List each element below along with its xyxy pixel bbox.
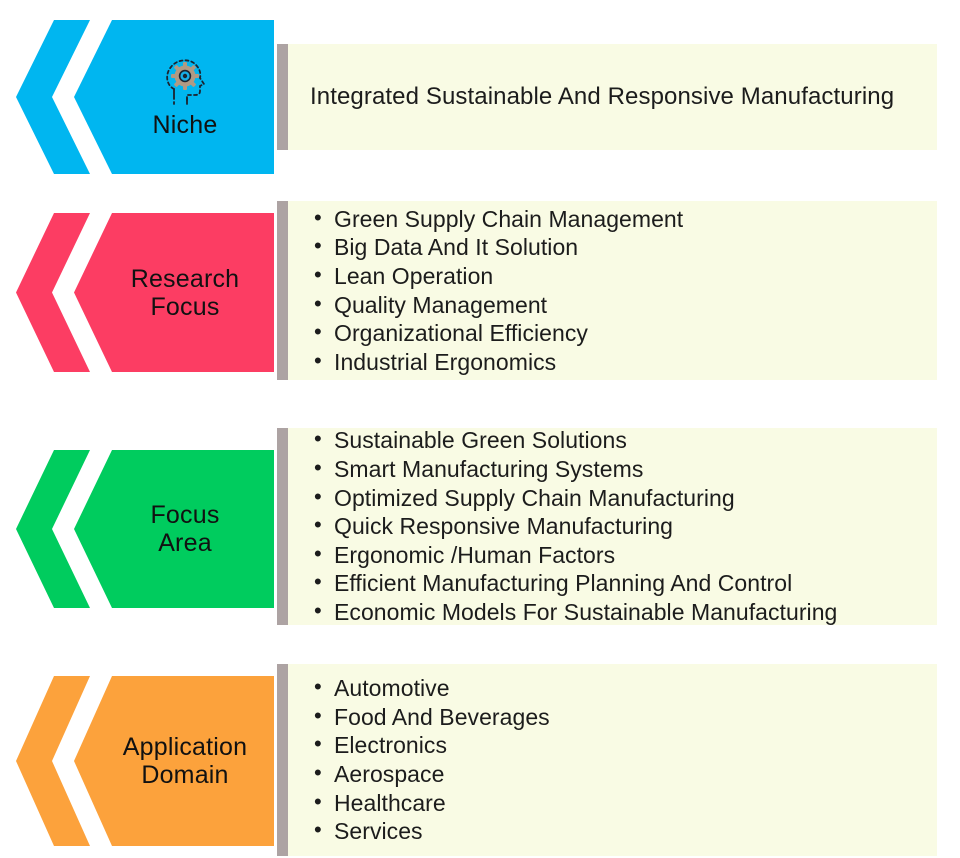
panel-content-application-domain: AutomotiveFood And BeveragesElectronicsA…: [288, 674, 937, 846]
chevron-banner-application-domain: [74, 676, 274, 846]
list-item: Electronics: [310, 731, 923, 760]
list-item: Services: [310, 817, 923, 846]
list-item: Automotive: [310, 674, 923, 703]
chevron-application-domain[interactable]: Application Domain: [16, 676, 274, 846]
content-panel-application-domain: AutomotiveFood And BeveragesElectronicsA…: [277, 664, 937, 856]
list-item: Aerospace: [310, 760, 923, 789]
framework-diagram: Integrated Sustainable And Responsive Ma…: [0, 0, 960, 858]
bullet-list-application-domain: AutomotiveFood And BeveragesElectronicsA…: [310, 674, 923, 846]
list-item: Healthcare: [310, 789, 923, 818]
list-item: Food And Beverages: [310, 703, 923, 732]
row-application-domain: AutomotiveFood And BeveragesElectronicsA…: [0, 0, 960, 858]
